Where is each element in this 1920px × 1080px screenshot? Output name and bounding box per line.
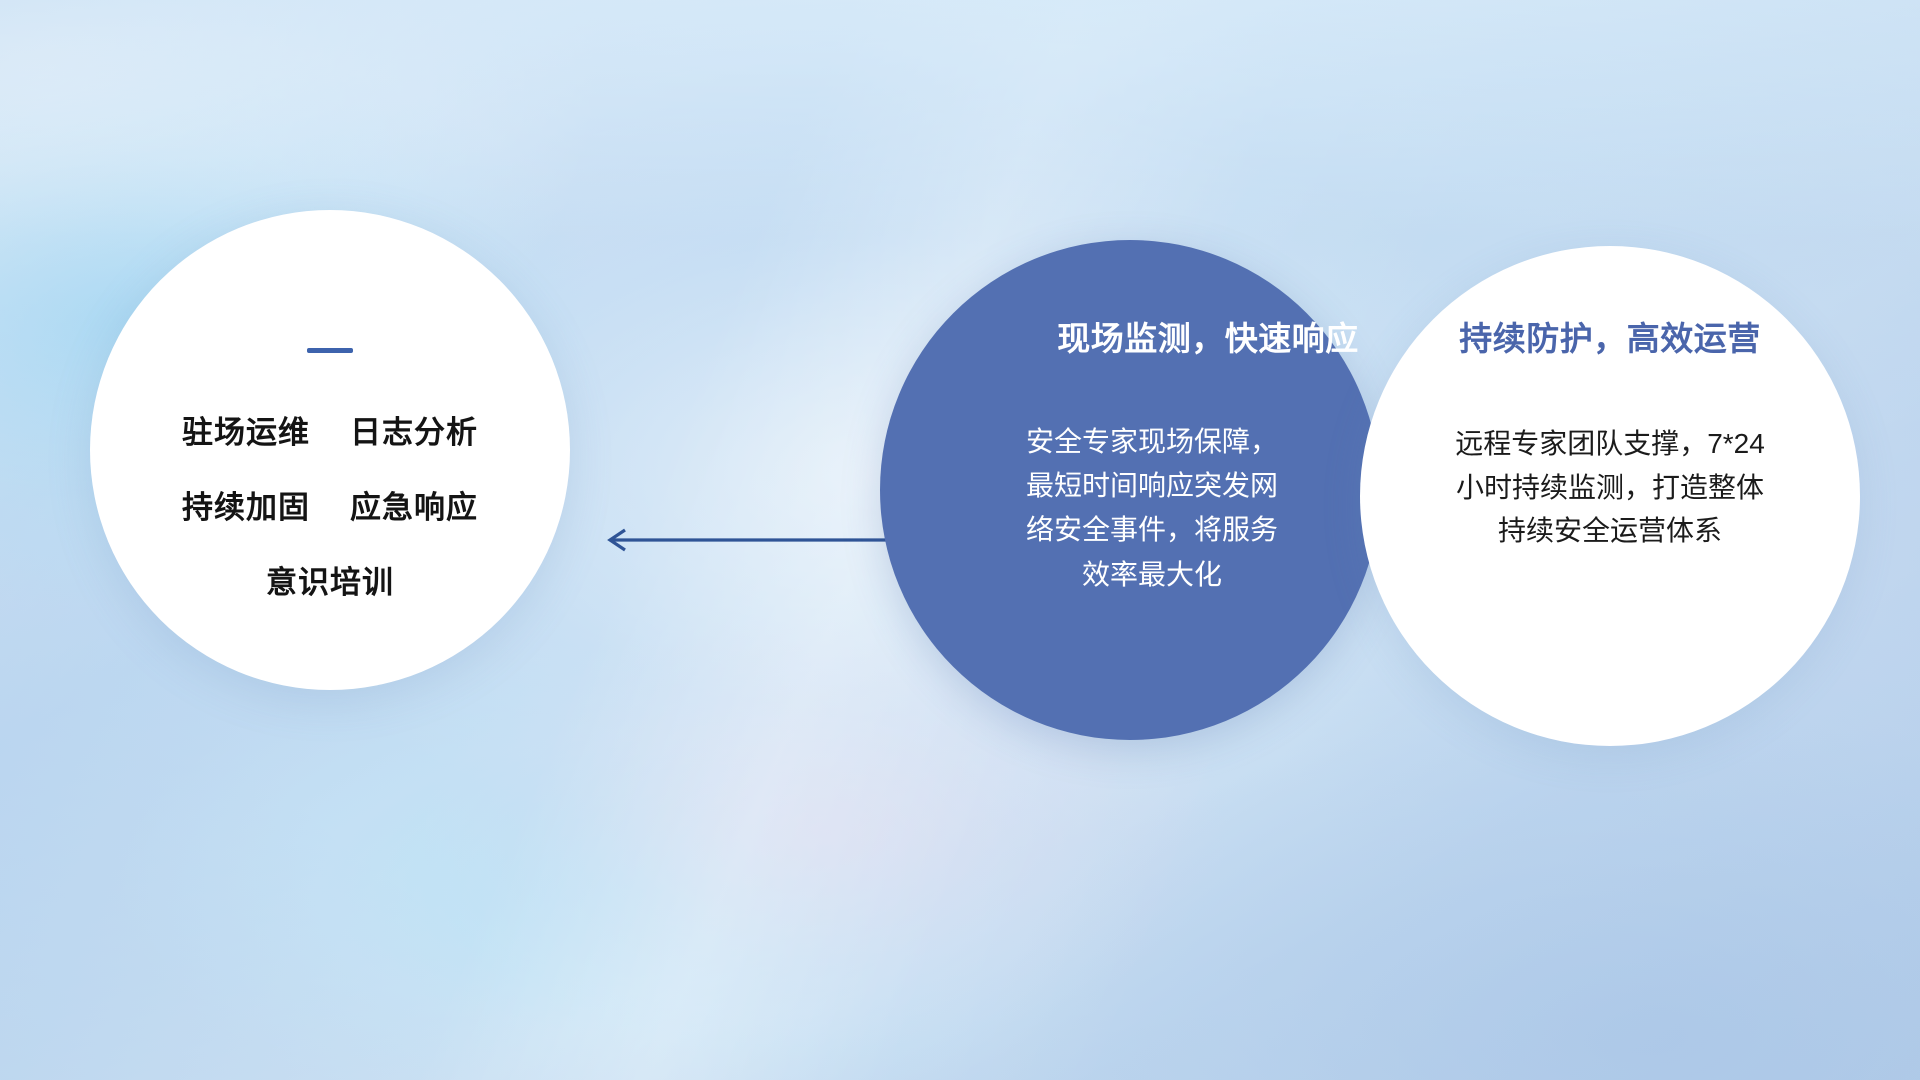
body-line: 安全专家现场保障，	[1007, 420, 1297, 464]
capability-item: 应急响应	[350, 482, 478, 527]
connector-arrow	[596, 520, 896, 560]
capability-row: 意识培训	[266, 557, 394, 602]
middle-onsite-circle: 现场监测，快速响应 安全专家现场保障， 最短时间响应突发网 络安全事件，将服务 …	[880, 240, 1380, 740]
middle-circle-content: 现场监测，快速响应 安全专家现场保障， 最短时间响应突发网 络安全事件，将服务 …	[880, 240, 1380, 740]
body-line: 小时持续监测，打造整体	[1410, 466, 1810, 510]
capability-row: 持续加固 应急响应	[182, 482, 478, 527]
middle-circle-title: 现场监测，快速响应	[1057, 312, 1359, 360]
left-capability-circle: 驻场运维 日志分析 持续加固 应急响应 意识培训	[90, 210, 570, 690]
right-circle-content: 持续防护，高效运营 远程专家团队支撑，7*24 小时持续监测，打造整体 持续安全…	[1360, 246, 1860, 746]
body-line: 效率最大化	[1007, 553, 1297, 597]
right-circle-title: 持续防护，高效运营	[1459, 312, 1761, 360]
body-line: 持续安全运营体系	[1410, 509, 1810, 553]
slide-canvas: 驻场运维 日志分析 持续加固 应急响应 意识培训 现场监测，快速响应	[0, 0, 1920, 1080]
left-circle-content: 驻场运维 日志分析 持续加固 应急响应 意识培训	[90, 210, 570, 690]
arrow-left-icon	[596, 520, 896, 560]
capability-list: 驻场运维 日志分析 持续加固 应急响应 意识培训	[182, 407, 478, 602]
capability-item: 持续加固	[182, 482, 310, 527]
capability-item: 日志分析	[350, 407, 478, 452]
capability-item: 驻场运维	[182, 407, 310, 452]
divider-dash-icon	[307, 348, 353, 353]
body-line: 络安全事件，将服务	[1007, 508, 1297, 552]
body-line: 远程专家团队支撑，7*24	[1410, 422, 1810, 466]
right-operations-circle: 持续防护，高效运营 远程专家团队支撑，7*24 小时持续监测，打造整体 持续安全…	[1360, 246, 1860, 746]
capability-row: 驻场运维 日志分析	[182, 407, 478, 452]
right-circle-body: 远程专家团队支撑，7*24 小时持续监测，打造整体 持续安全运营体系	[1410, 422, 1810, 553]
middle-circle-body: 安全专家现场保障， 最短时间响应突发网 络安全事件，将服务 效率最大化	[1007, 420, 1297, 597]
capability-item: 意识培训	[266, 557, 394, 602]
body-line: 最短时间响应突发网	[1007, 464, 1297, 508]
